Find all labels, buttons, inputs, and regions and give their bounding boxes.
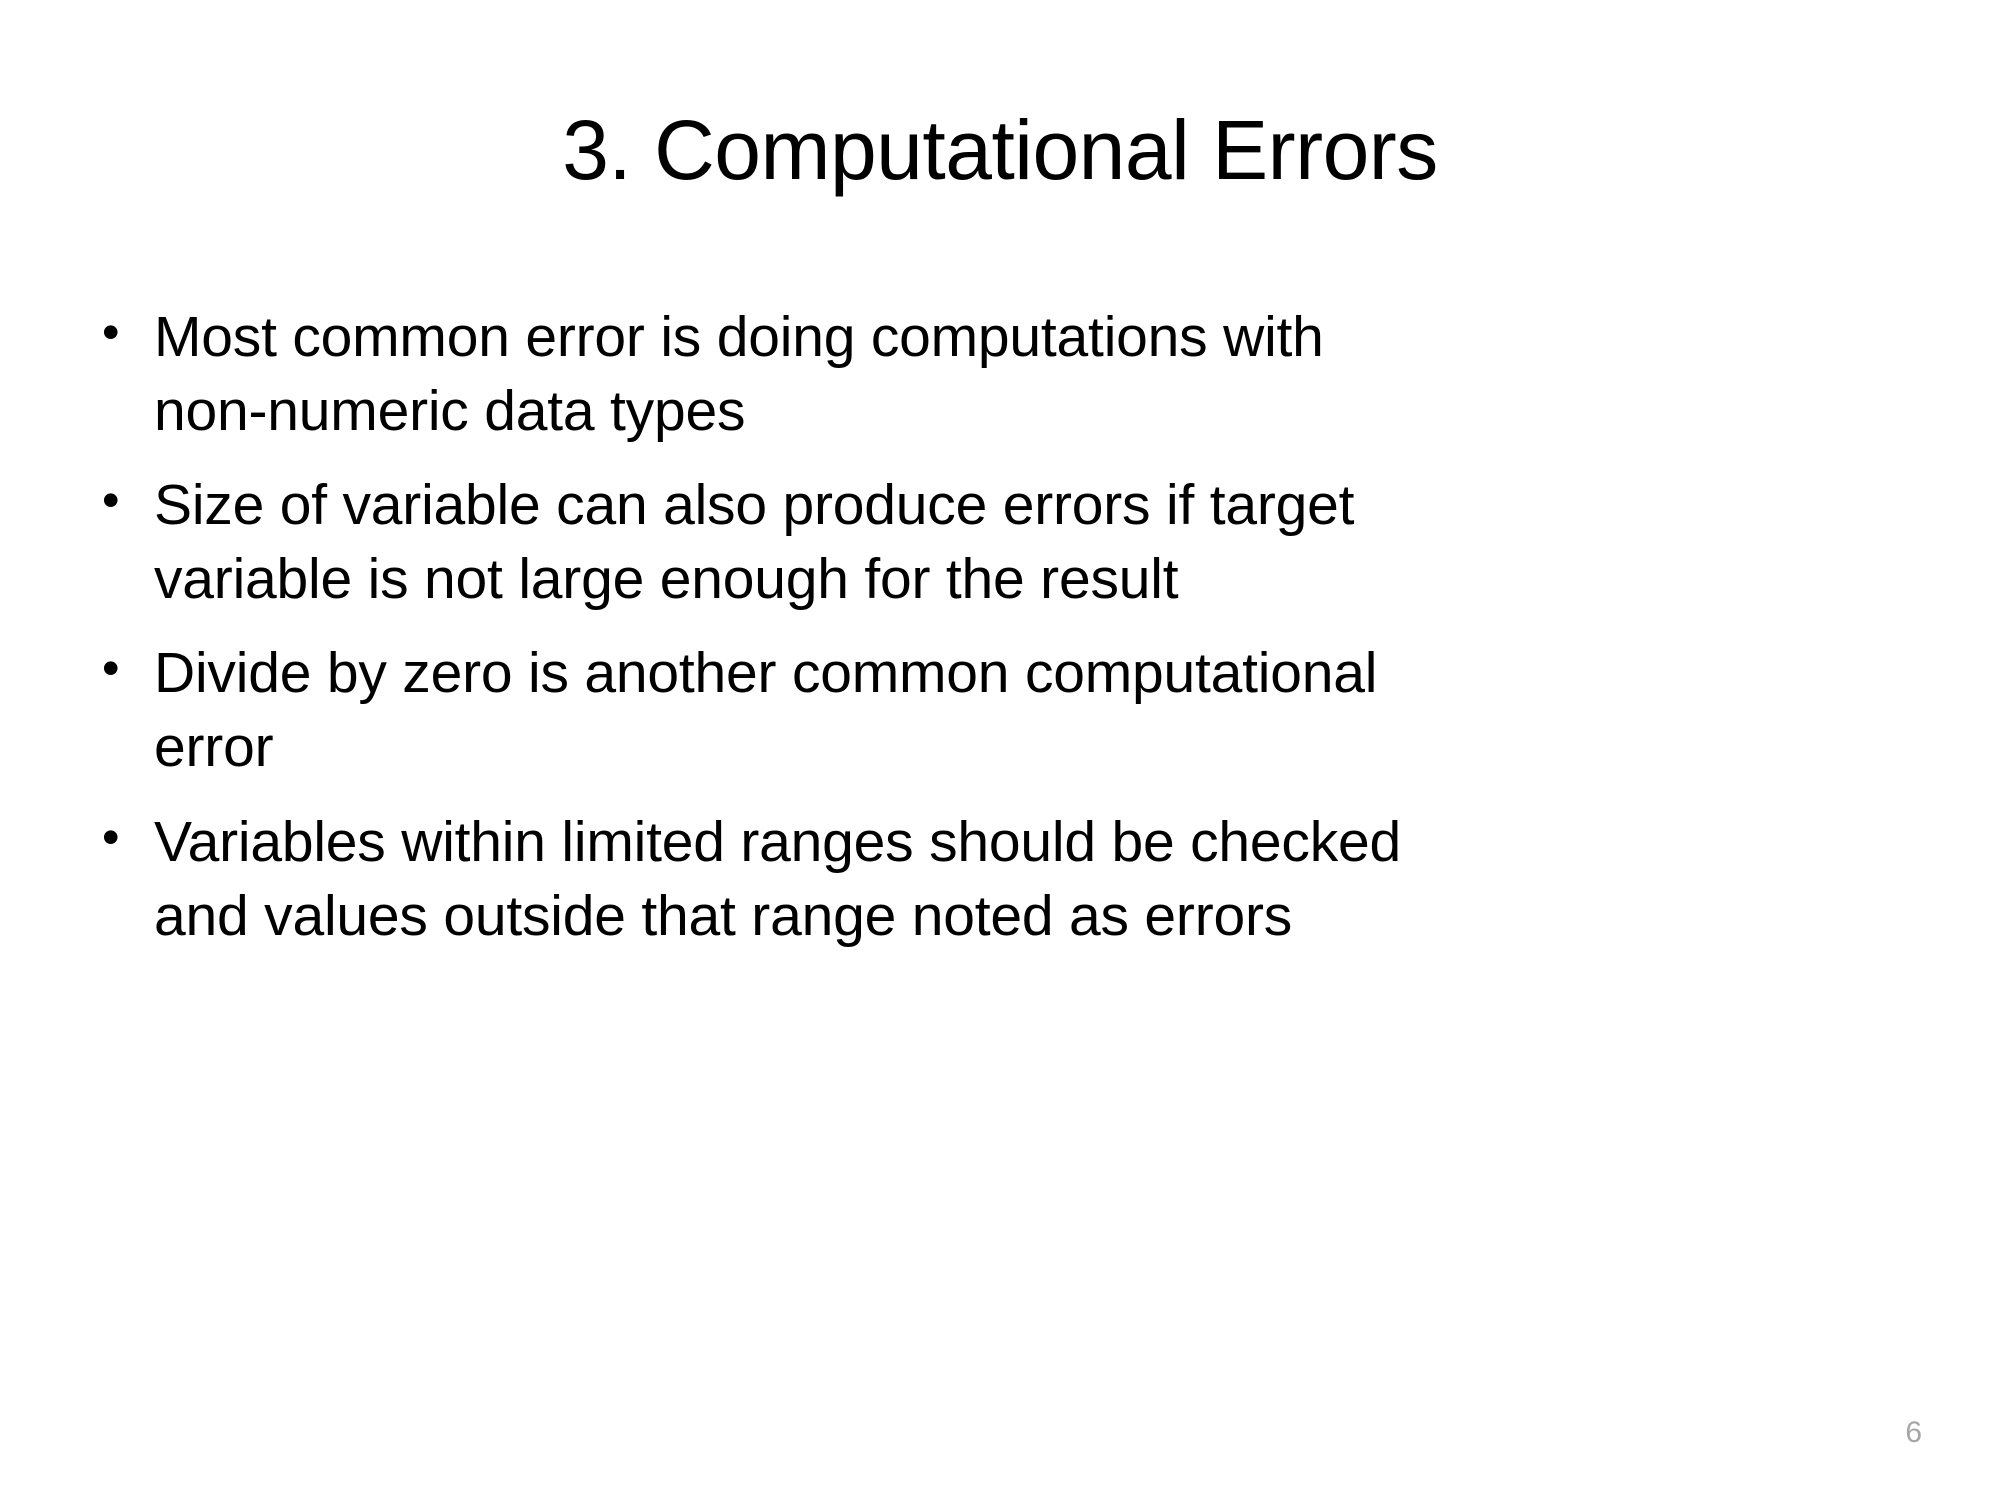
slide-title: 3. Computational Errors — [0, 108, 2000, 192]
bullet-text-line: non-numeric data types — [154, 374, 1938, 448]
bullet-list-item: • Divide by zero is another common compu… — [98, 636, 1938, 784]
bullet-point-icon: • — [98, 468, 154, 533]
bullet-text-line: error — [154, 710, 1938, 784]
bullet-list-item: • Most common error is doing computation… — [98, 300, 1938, 448]
bullet-text-line: and values outside that range noted as e… — [154, 879, 1938, 953]
bullet-item-text: Most common error is doing computations … — [154, 300, 1938, 448]
bullet-text-line: Divide by zero is another common computa… — [154, 636, 1938, 710]
bullet-list-item: • Variables within limited ranges should… — [98, 805, 1938, 953]
bullet-point-icon: • — [98, 300, 154, 365]
slide-page-number: 6 — [1905, 1418, 1922, 1448]
bullet-text-line: Most common error is doing computations … — [154, 300, 1938, 374]
bullet-point-icon: • — [98, 805, 154, 870]
bullet-item-text: Divide by zero is another common computa… — [154, 636, 1938, 784]
bullet-item-text: Size of variable can also produce errors… — [154, 468, 1938, 616]
bullet-text-line: variable is not large enough for the res… — [154, 542, 1938, 616]
bullet-item-text: Variables within limited ranges should b… — [154, 805, 1938, 953]
slide-body-content: • Most common error is doing computation… — [98, 300, 1938, 973]
presentation-slide: 3. Computational Errors • Most common er… — [0, 0, 2000, 1500]
bullet-text-line: Size of variable can also produce errors… — [154, 468, 1938, 542]
bullet-list-item: • Size of variable can also produce erro… — [98, 468, 1938, 616]
bullet-text-line: Variables within limited ranges should b… — [154, 805, 1938, 879]
bullet-point-icon: • — [98, 636, 154, 701]
